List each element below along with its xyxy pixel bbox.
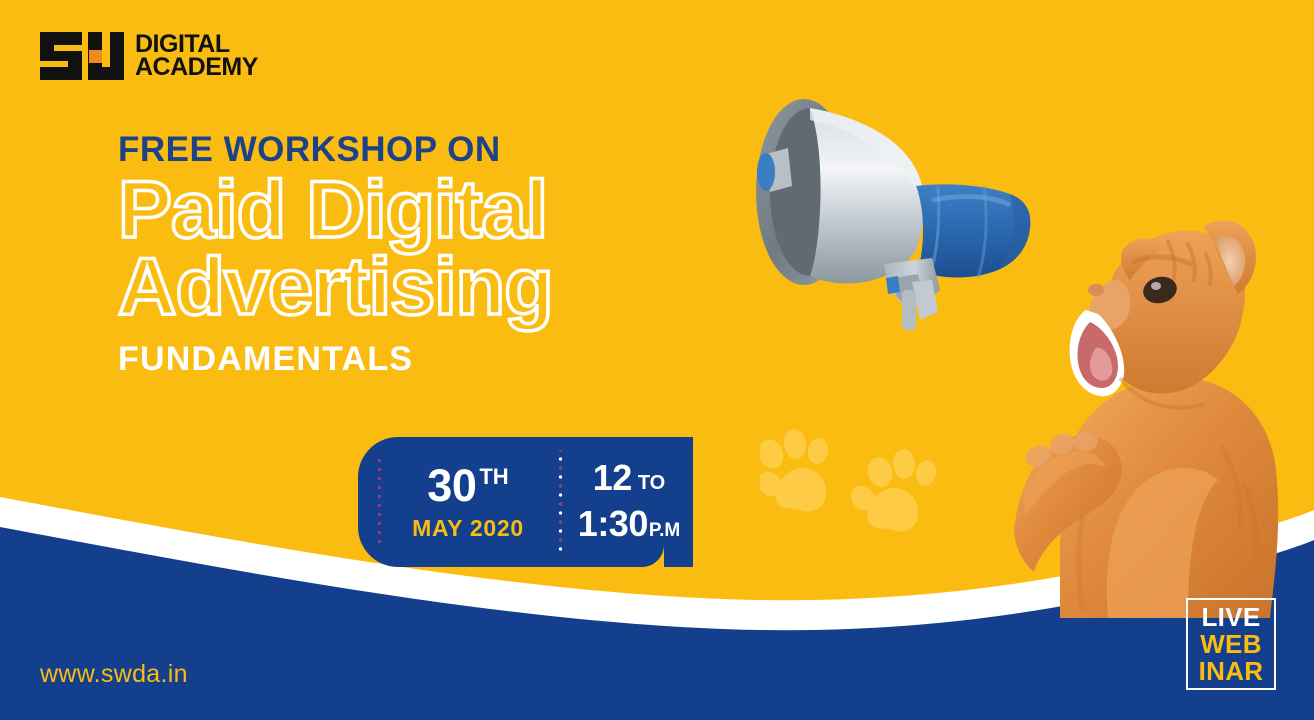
live-badge-line-1: LIVE [1202,604,1261,631]
cat-photo [1012,198,1314,623]
badge-time-end-line: 1:30 P.M [578,506,680,542]
badge-date-line: 30 TH [427,463,508,508]
title-line-2: Advertising [118,248,553,327]
badge-month-year: MAY 2020 [412,517,524,540]
paw-print-icon [760,428,940,553]
subtitle-text: FUNDAMENTALS [118,342,553,376]
badge-time-group: 12 TO 1:30 P.M [565,460,693,542]
live-webinar-badge: LIVE WEB INAR [1186,598,1276,690]
badge-time-meridiem: P.M [649,521,680,540]
live-badge-line-2: WEB [1200,631,1262,658]
badge-dotted-divider-left [377,456,382,548]
live-badge-line-3: INAR [1199,658,1264,685]
brand-logo: DIGITAL ACADEMY [38,28,258,84]
promotional-banner: DIGITAL ACADEMY FREE WORKSHOP ON Paid Di… [0,0,1314,720]
badge-date-group: 30 TH MAY 2020 [392,463,544,540]
headline-block: FREE WORKSHOP ON Paid Digital Advertisin… [118,132,553,376]
badge-time-start-line: 12 TO [593,460,665,496]
badge-time-start: 12 [593,460,632,496]
badge-content: 30 TH MAY 2020 12 TO 1:30 P.M [358,437,693,567]
badge-time-separator: TO [638,473,665,493]
logo-wordmark: DIGITAL ACADEMY [135,33,258,79]
date-time-badge: 30 TH MAY 2020 12 TO 1:30 P.M [358,437,693,567]
su-monogram-logo-icon [38,28,124,84]
title-line-1: Paid Digital [118,171,553,250]
badge-date-day: 30 [427,463,476,508]
logo-line-2: ACADEMY [135,56,258,79]
eyebrow-text: FREE WORKSHOP ON [118,132,553,167]
badge-date-ordinal: TH [479,466,508,488]
badge-dotted-divider-middle [558,450,563,554]
badge-time-end: 1:30 [578,506,648,542]
website-url[interactable]: www.swda.in [40,660,188,689]
